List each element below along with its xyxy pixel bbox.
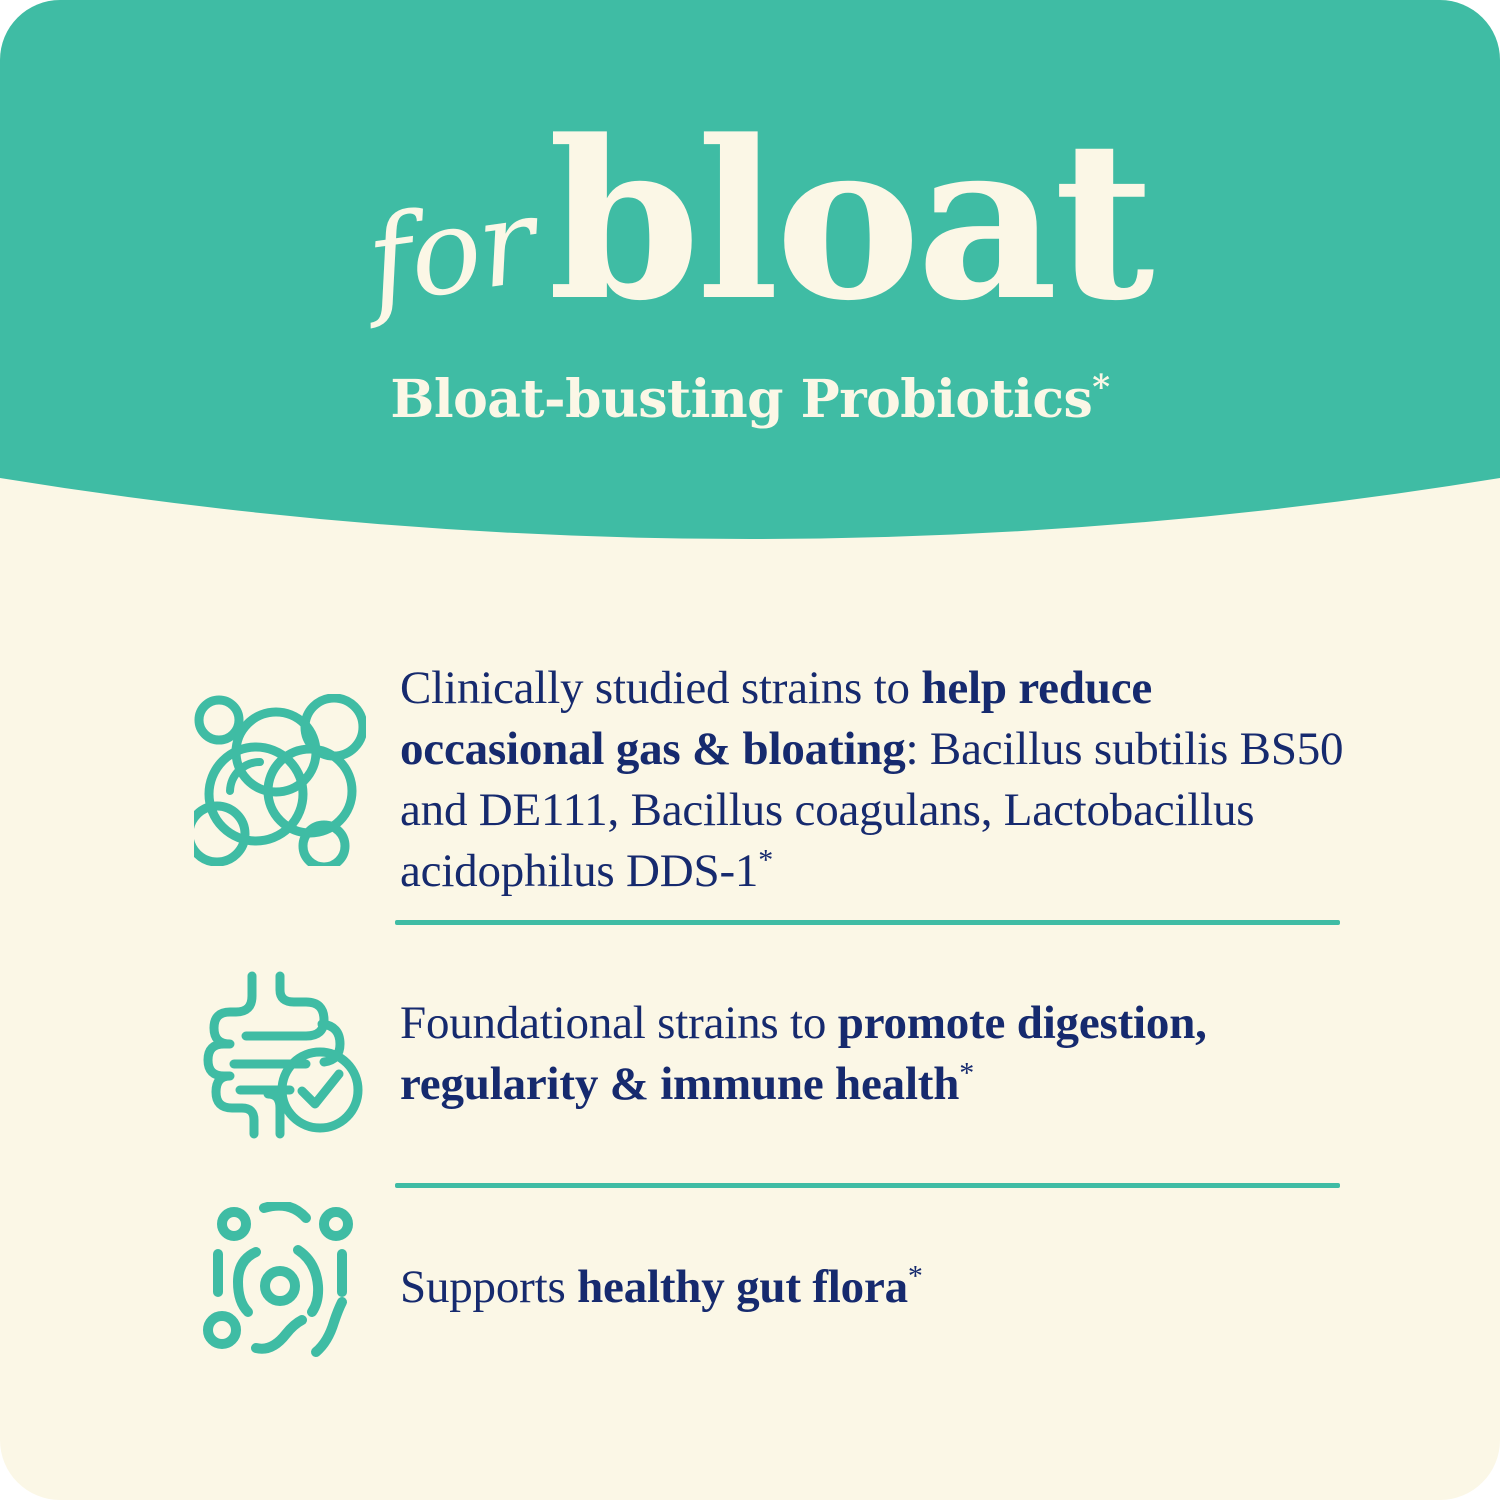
benefit-3-footnote-marker: * xyxy=(908,1260,923,1293)
benefit-3-lead: Supports xyxy=(400,1261,577,1313)
gut-flora-icon xyxy=(190,1198,370,1378)
benefit-text-digestion: Foundational strains to promote digestio… xyxy=(370,993,1350,1115)
header-subtitle-footnote-marker: * xyxy=(1092,368,1109,408)
benefit-item-digestion: Foundational strains to promote digestio… xyxy=(0,925,1500,1183)
benefit-1-footnote-marker: * xyxy=(758,843,773,876)
benefit-item-bloating: Clinically studied strains to help reduc… xyxy=(0,640,1500,920)
benefit-2-lead: Foundational strains to xyxy=(400,997,838,1049)
title-script-for: for xyxy=(361,181,541,321)
benefit-1-lead: Clinically studied strains to xyxy=(400,662,921,714)
benefit-text-bloating: Clinically studied strains to help reduc… xyxy=(370,658,1350,902)
title-main-bloat: bloat xyxy=(548,112,1151,330)
benefit-item-gut-flora: Supports healthy gut flora* xyxy=(0,1188,1500,1388)
header-banner: for bloat Bloat-busting Probiotics* xyxy=(0,0,1500,600)
benefit-2-bold-lead: promote xyxy=(838,997,1005,1049)
bubbles-icon xyxy=(190,690,370,870)
benefit-text-gut-flora: Supports healthy gut flora* xyxy=(370,1257,1350,1318)
header-subtitle: Bloat-busting Probiotics* xyxy=(390,374,1109,426)
benefits-list: Clinically studied strains to help reduc… xyxy=(0,640,1500,1388)
header-content: for bloat Bloat-busting Probiotics* xyxy=(0,0,1500,480)
title-row: for bloat xyxy=(0,120,1500,350)
product-benefits-poster: for bloat Bloat-busting Probiotics* xyxy=(0,0,1500,1500)
header-subtitle-text: Bloat-busting Probiotics xyxy=(390,369,1092,430)
benefit-3-bold: healthy gut flora xyxy=(577,1261,908,1313)
intestine-check-icon xyxy=(190,964,370,1144)
benefit-2-footnote-marker: * xyxy=(959,1056,974,1089)
